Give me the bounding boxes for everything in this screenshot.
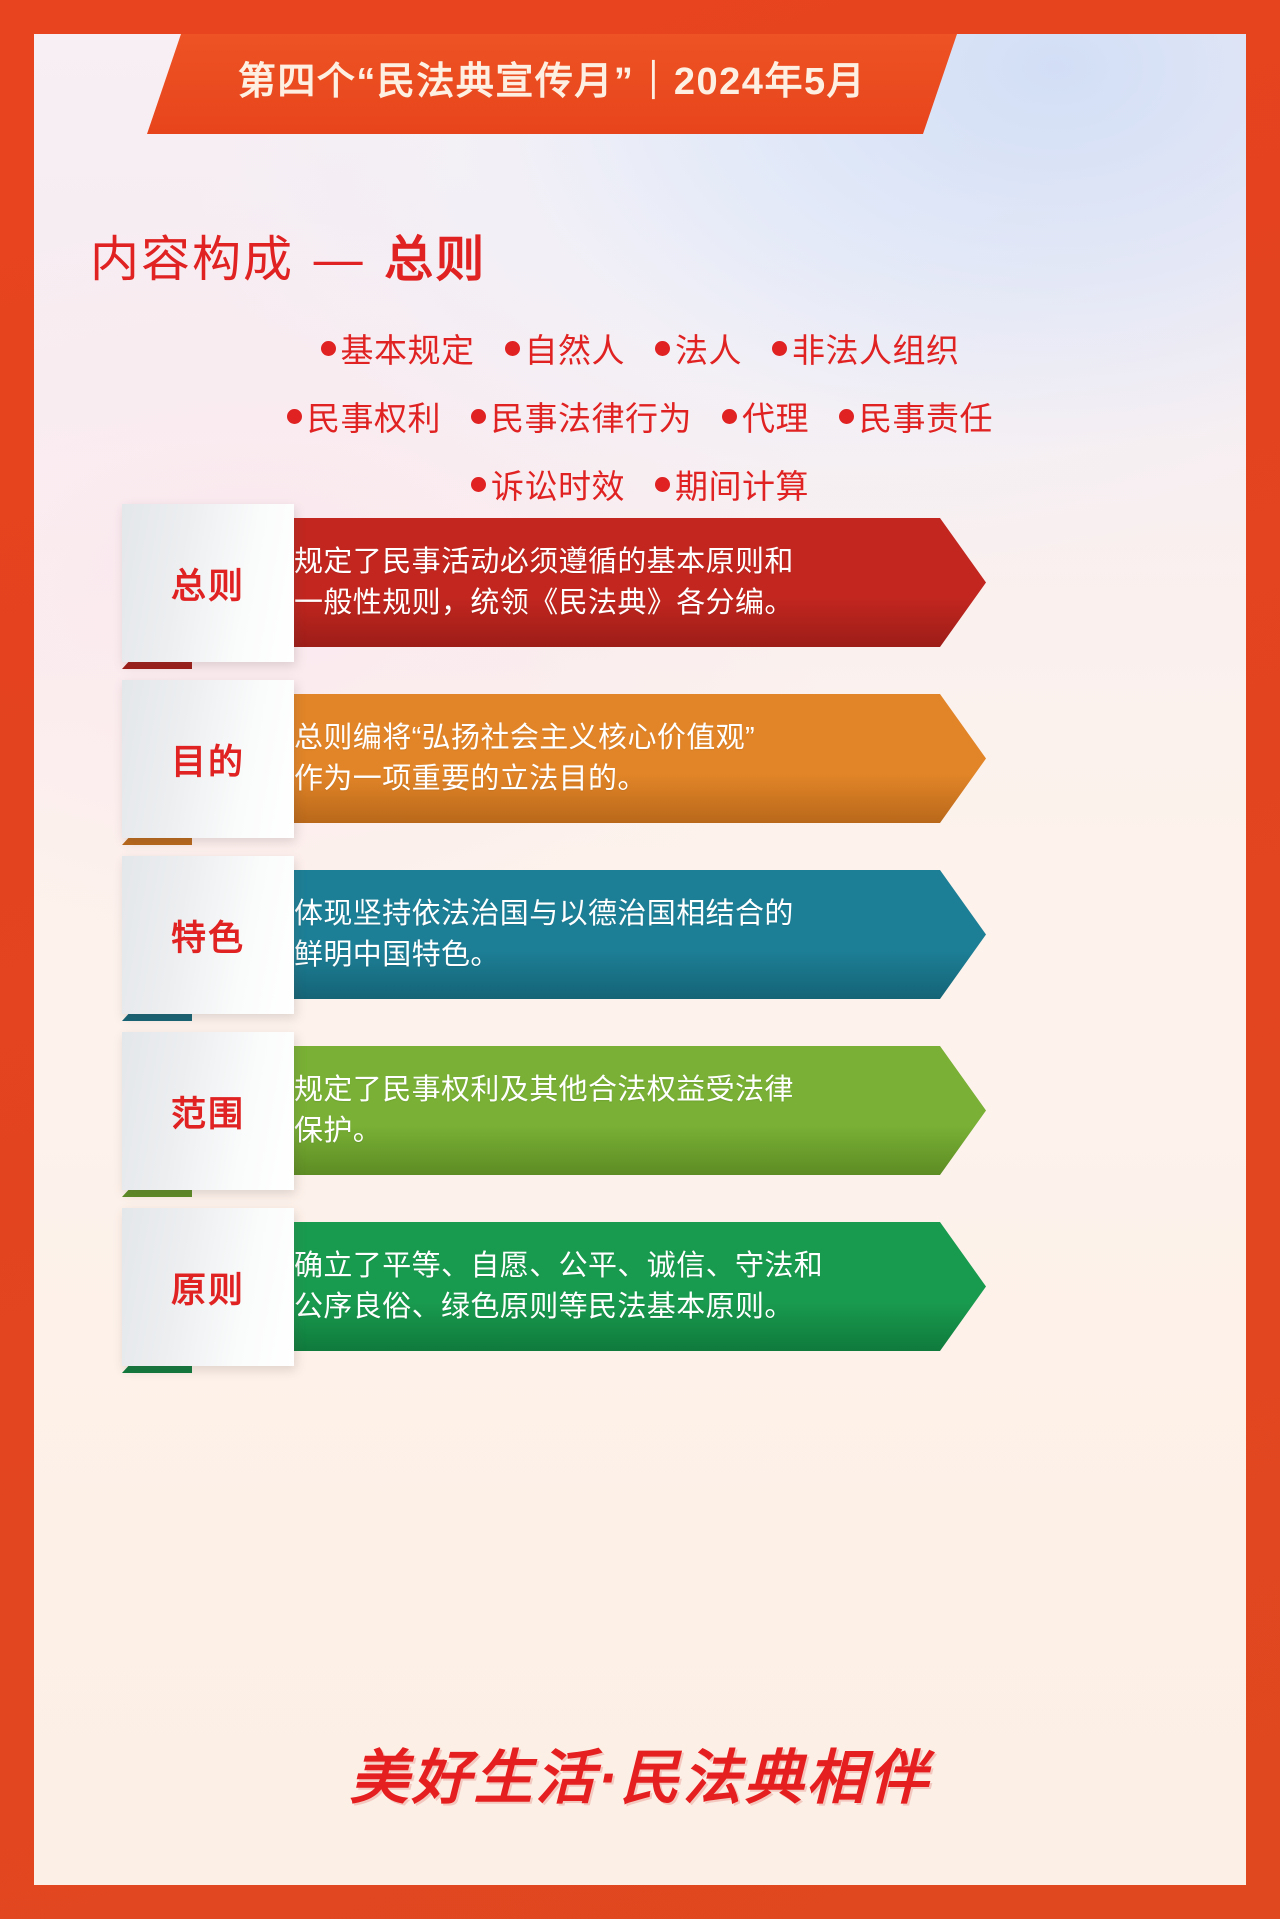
page-title-prefix: 内容构成 <box>90 233 294 287</box>
detail-row-arrow: 总则编将“弘扬社会主义核心价值观” 作为一项重要的立法目的。 <box>192 694 986 823</box>
bullet-dot-icon <box>287 409 302 424</box>
topic-bullet-item: 非法人组织 <box>772 324 960 372</box>
page-title-emphasis: 总则 <box>384 233 486 287</box>
bullet-dot-icon <box>471 409 486 424</box>
bullet-dot-icon <box>505 341 520 356</box>
detail-row-label: 原则 <box>171 1262 245 1313</box>
detail-row-arrow: 规定了民事权利及其他合法权益受法律 保护。 <box>192 1046 986 1175</box>
detail-row: 规定了民事权利及其他合法权益受法律 保护。范围 <box>34 1032 1246 1202</box>
topic-bullet-item: 自然人 <box>505 324 626 372</box>
topic-bullet-item: 民事权利 <box>287 392 441 440</box>
detail-row: 总则编将“弘扬社会主义核心价值观” 作为一项重要的立法目的。目的 <box>34 680 1246 850</box>
poster-frame: 第四个“民法典宣传月”｜2024年5月 内容构成 — 总则 基本规定自然人法人非… <box>0 0 1280 1919</box>
topic-bullet-list: 基本规定自然人法人非法人组织民事权利民事法律行为代理民事责任诉讼时效期间计算 <box>34 324 1246 508</box>
detail-row-label: 特色 <box>171 910 245 961</box>
detail-row-label: 目的 <box>171 734 245 785</box>
detail-row-label-card: 目的 <box>122 680 294 838</box>
footer-slogan: 美好生活·民法典相伴 <box>34 1730 1246 1815</box>
topic-bullet-row: 诉讼时效期间计算 <box>471 460 809 508</box>
detail-row-list: 规定了民事活动必须遵循的基本原则和 一般性规则，统领《民法典》各分编。总则总则编… <box>34 504 1246 1384</box>
detail-row: 体现坚持依法治国与以德治国相结合的 鲜明中国特色。特色 <box>34 856 1246 1026</box>
topic-bullet-label: 民事权利 <box>307 392 441 440</box>
detail-row-label: 总则 <box>171 558 245 609</box>
topic-bullet-item: 代理 <box>722 392 809 440</box>
detail-row-label-card: 原则 <box>122 1208 294 1366</box>
topic-bullet-item: 诉讼时效 <box>471 460 625 508</box>
detail-row-arrow: 规定了民事活动必须遵循的基本原则和 一般性规则，统领《民法典》各分编。 <box>192 518 986 647</box>
topic-bullet-row: 基本规定自然人法人非法人组织 <box>321 324 960 372</box>
topic-bullet-label: 非法人组织 <box>792 324 960 372</box>
topic-bullet-item: 法人 <box>655 324 742 372</box>
detail-row-label-card: 范围 <box>122 1032 294 1190</box>
page-title: 内容构成 — 总则 <box>90 220 486 291</box>
topic-bullet-label: 民事法律行为 <box>491 392 692 440</box>
page-title-dash: — <box>314 233 365 287</box>
detail-row-label-card: 特色 <box>122 856 294 1014</box>
topic-bullet-label: 法人 <box>675 324 742 372</box>
detail-row-arrow: 确立了平等、自愿、公平、诚信、守法和 公序良俗、绿色原则等民法基本原则。 <box>192 1222 986 1351</box>
bullet-dot-icon <box>321 341 336 356</box>
detail-row-arrow: 体现坚持依法治国与以德治国相结合的 鲜明中国特色。 <box>192 870 986 999</box>
topic-bullet-label: 民事责任 <box>859 392 993 440</box>
detail-row: 规定了民事活动必须遵循的基本原则和 一般性规则，统领《民法典》各分编。总则 <box>34 504 1246 674</box>
topic-bullet-item: 民事责任 <box>839 392 993 440</box>
detail-row-label-card: 总则 <box>122 504 294 662</box>
topic-bullet-item: 基本规定 <box>321 324 475 372</box>
topic-bullet-label: 代理 <box>742 392 809 440</box>
topic-bullet-label: 诉讼时效 <box>491 460 625 508</box>
bullet-dot-icon <box>839 409 854 424</box>
topic-bullet-item: 期间计算 <box>655 460 809 508</box>
topic-bullet-label: 基本规定 <box>341 324 475 372</box>
header-banner: 第四个“民法典宣传月”｜2024年5月 <box>147 34 957 134</box>
topic-bullet-item: 民事法律行为 <box>471 392 692 440</box>
bullet-dot-icon <box>772 341 787 356</box>
bullet-dot-icon <box>655 341 670 356</box>
detail-row: 确立了平等、自愿、公平、诚信、守法和 公序良俗、绿色原则等民法基本原则。原则 <box>34 1208 1246 1378</box>
detail-row-label: 范围 <box>171 1086 245 1137</box>
bullet-dot-icon <box>471 477 486 492</box>
topic-bullet-label: 期间计算 <box>675 460 809 508</box>
topic-bullet-row: 民事权利民事法律行为代理民事责任 <box>287 392 993 440</box>
header-banner-title: 第四个“民法典宣传月”｜2024年5月 <box>238 63 866 105</box>
bullet-dot-icon <box>722 409 737 424</box>
poster-page: 第四个“民法典宣传月”｜2024年5月 内容构成 — 总则 基本规定自然人法人非… <box>34 34 1246 1885</box>
bullet-dot-icon <box>655 477 670 492</box>
topic-bullet-label: 自然人 <box>525 324 626 372</box>
